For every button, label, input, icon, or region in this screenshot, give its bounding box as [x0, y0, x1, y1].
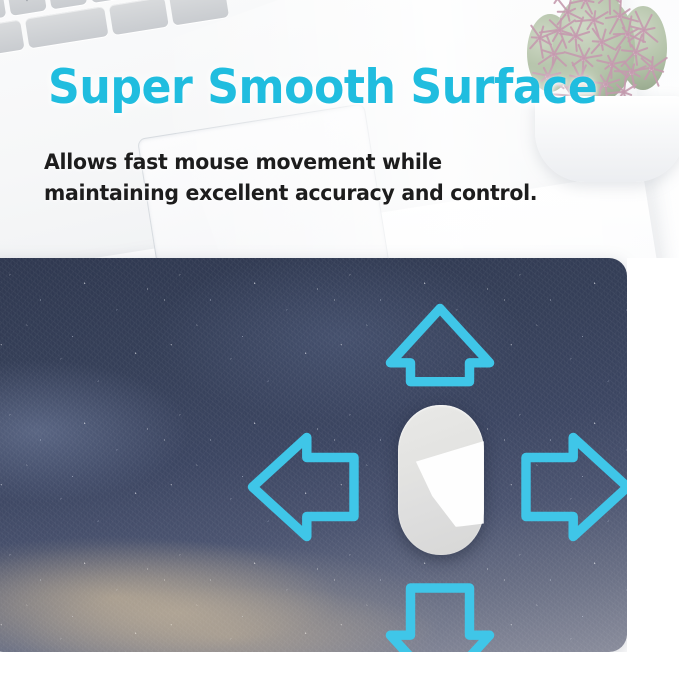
keyboard-key: C: [0, 0, 6, 22]
arrow-up-icon: [381, 292, 499, 410]
cactus-spine: [559, 19, 576, 31]
keyboard-key: [0, 20, 25, 58]
wireless-mouse: [398, 405, 484, 555]
right-margin: [627, 258, 679, 658]
product-description: Allows fast mouse movement while maintai…: [44, 148, 537, 209]
keyboard-key: [25, 6, 109, 48]
description-line-2: maintaining excellent accuracy and contr…: [44, 179, 537, 210]
keyboard-key: V: [7, 0, 47, 16]
cactus-spine: [643, 30, 645, 43]
cactus-spine: [609, 16, 620, 35]
cactus-spine: [584, 54, 603, 59]
mouse-highlight: [410, 441, 484, 527]
bottom-margin: [0, 652, 679, 679]
product-marketing-image: QWERTYUIOP ASDFGHJKL ZXCVBNM Super Smoot…: [0, 0, 679, 679]
cactus-spine: [651, 57, 667, 69]
cactus-spine: [591, 42, 603, 55]
keyboard-key: B: [47, 0, 87, 9]
page-title: Super Smooth Surface: [48, 64, 597, 111]
cactus-spine: [609, 0, 611, 15]
description-line-1: Allows fast mouse movement while: [44, 148, 537, 179]
keyboard-key: [109, 0, 169, 35]
cactus-spine: [529, 38, 540, 50]
arrow-left-icon: [236, 428, 354, 546]
